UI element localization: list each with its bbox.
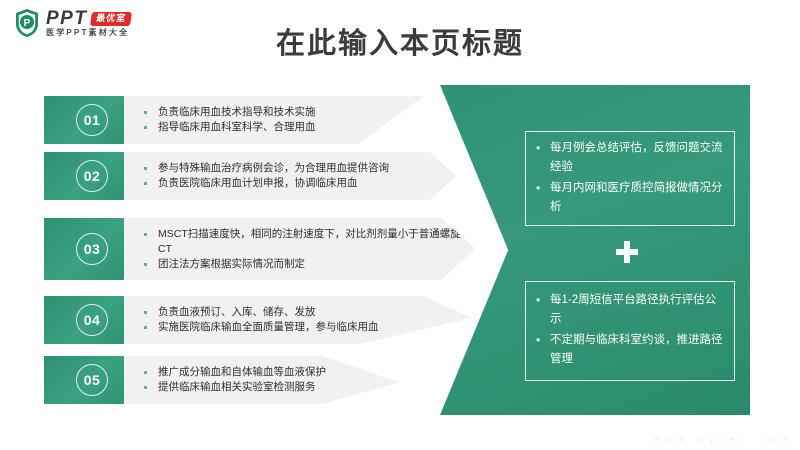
list-item: 团注法方案根据实际情况而制定: [134, 257, 470, 272]
page-title: 在此输入本页标题: [0, 20, 800, 62]
process-row-03: 03 MSCT扫描速度快，相同的注射速度下，对比剂剂量小于普通螺旋CT 团注法方…: [44, 218, 476, 280]
row-content-01: 负责临床用血技术指导和技术实施 指导临床用血科室科学、合理用血: [124, 96, 424, 144]
summary-top-list: 每月例会总结评估，反馈问题交流经验 每月内网和医疗质控简报做情况分析: [532, 139, 724, 219]
row-number-04: 04: [76, 304, 108, 336]
summary-box-bottom: 每1-2周短信平台路径执行评估公示 不定期与临床科室约谈，推进路径管理: [525, 281, 735, 381]
row-number-03: 03: [76, 233, 108, 265]
list-item: MSCT扫描速度快，相同的注射速度下，对比剂剂量小于普通螺旋CT: [134, 227, 470, 257]
list-item: 实施医院临床输血全面质量管理，参与临床用血: [134, 320, 466, 335]
row-content-05: 推广成分输血和自体输血等血液保护 提供临床输血相关实验室检测服务: [124, 356, 444, 404]
row-bullet-list-02: 参与特殊输血治疗病例会诊，为合理用血提供咨询 负责医院临床用血计划申报，协调临床…: [134, 161, 450, 191]
list-item: 推广成分输血和自体输血等血液保护: [134, 365, 438, 380]
row-content-03: MSCT扫描速度快，相同的注射速度下，对比剂剂量小于普通螺旋CT 团注法方案根据…: [124, 218, 476, 280]
row-bullet-list-01: 负责临床用血技术指导和技术实施 指导临床用血科室科学、合理用血: [134, 105, 418, 135]
plus-icon: [613, 238, 641, 266]
list-item: 指导临床用血科室科学、合理用血: [134, 120, 418, 135]
list-item: 负责临床用血技术指导和技术实施: [134, 105, 418, 120]
summary-box-top: 每月例会总结评估，反馈问题交流经验 每月内网和医疗质控简报做情况分析: [525, 131, 735, 226]
list-item: 不定期与临床科室约谈，推进路径管理: [532, 331, 724, 369]
row-number-02: 02: [76, 160, 108, 192]
row-bullet-list-05: 推广成分输血和自体输血等血液保护 提供临床输血相关实验室检测服务: [134, 365, 438, 395]
slide-canvas: P PPT 最优室 医学PPT素材大全 在此输入本页标题 01 负责临床用血技术…: [0, 0, 800, 450]
row-content-02: 参与特殊输血治疗病例会诊，为合理用血提供咨询 负责医院临床用血计划申报，协调临床…: [124, 152, 456, 200]
watermark: w w w . p p t e r . c o m: [653, 434, 790, 444]
row-number-05: 05: [76, 364, 108, 396]
list-item: 每月例会总结评估，反馈问题交流经验: [532, 139, 724, 177]
summary-bottom-list: 每1-2周短信平台路径执行评估公示 不定期与临床科室约谈，推进路径管理: [532, 291, 724, 371]
row-bullet-list-03: MSCT扫描速度快，相同的注射速度下，对比剂剂量小于普通螺旋CT 团注法方案根据…: [134, 227, 470, 272]
row-content-04: 负责血液预订、入库、储存、发放 实施医院临床输血全面质量管理，参与临床用血: [124, 296, 472, 344]
process-row-05: 05 推广成分输血和自体输血等血液保护 提供临床输血相关实验室检测服务: [44, 356, 444, 404]
process-row-04: 04 负责血液预订、入库、储存、发放 实施医院临床输血全面质量管理，参与临床用血: [44, 296, 472, 344]
list-item: 每月内网和医疗质控简报做情况分析: [532, 179, 724, 217]
process-row-01: 01 负责临床用血技术指导和技术实施 指导临床用血科室科学、合理用血: [44, 96, 424, 144]
list-item: 负责医院临床用血计划申报，协调临床用血: [134, 176, 450, 191]
row-number-01: 01: [76, 104, 108, 136]
list-item: 参与特殊输血治疗病例会诊，为合理用血提供咨询: [134, 161, 450, 176]
process-row-02: 02 参与特殊输血治疗病例会诊，为合理用血提供咨询 负责医院临床用血计划申报，协…: [44, 152, 456, 200]
list-item: 负责血液预订、入库、储存、发放: [134, 305, 466, 320]
list-item: 提供临床输血相关实验室检测服务: [134, 380, 438, 395]
row-bullet-list-04: 负责血液预订、入库、储存、发放 实施医院临床输血全面质量管理，参与临床用血: [134, 305, 466, 335]
list-item: 每1-2周短信平台路径执行评估公示: [532, 291, 724, 329]
